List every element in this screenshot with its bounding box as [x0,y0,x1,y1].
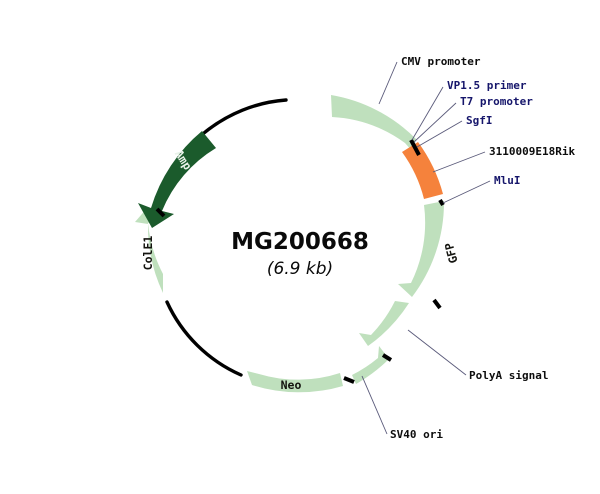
callout-label-vp15-primer: VP1.5 primer [447,79,527,92]
plasmid-name-title: MG200668 [231,229,369,255]
tick-mlui[interactable] [440,200,443,205]
feature-arrow-amp[interactable] [138,131,216,228]
plasmid-map-figure: GFP Neo ColE1 Amp [0,0,600,494]
leader-polya-signal [408,330,466,375]
feature-label-gfp: GFP [442,241,461,265]
feature-sv40-ori[interactable] [352,346,389,384]
feature-neo[interactable]: Neo [247,371,343,392]
callout-labels: CMV promoter VP1.5 primer T7 promoter Sg… [390,55,575,441]
leader-vp15-primer [412,87,443,140]
tick-sv40-end[interactable] [344,378,354,382]
feature-label-cole1: ColE1 [141,236,155,271]
callout-label-cmv-promoter: CMV promoter [401,55,481,68]
feature-arrow-gfp[interactable] [398,201,444,297]
feature-amp[interactable]: Amp [138,131,216,228]
tick-gfp-end[interactable] [434,300,440,308]
leader-sgfi [417,121,462,147]
callout-label-polya-signal: PolyA signal [469,369,548,382]
leader-mlui [443,181,490,203]
plasmid-map-canvas: GFP Neo ColE1 Amp [0,0,600,494]
leader-rik-gene [433,152,485,172]
feature-arrow-polya-signal[interactable] [359,301,409,346]
callout-label-sv40-ori: SV40 ori [390,428,443,441]
backbone-arc-top [204,100,286,133]
backbone-arc-left [167,302,241,375]
plasmid-size-label: (6.9 kb) [267,259,333,279]
feature-cmv-promoter[interactable] [331,95,416,152]
feature-label-neo: Neo [281,378,302,392]
leader-cmv-promoter [379,62,397,104]
feature-gfp[interactable]: GFP [398,201,461,297]
feature-arrow-sv40-ori[interactable] [352,346,389,384]
leader-sv40-ori [362,376,387,434]
callout-label-sgfi: SgfI [466,114,493,127]
feature-arrow-cmv-promoter[interactable] [331,95,416,152]
callout-label-rik-gene: 3110009E18Rik [489,145,575,158]
feature-polya-signal[interactable] [359,301,409,346]
center-text-group: MG200668 (6.9 kb) [231,229,369,279]
callout-label-t7-promoter: T7 promoter [460,95,533,108]
callout-label-mlui: MluI [494,174,521,187]
